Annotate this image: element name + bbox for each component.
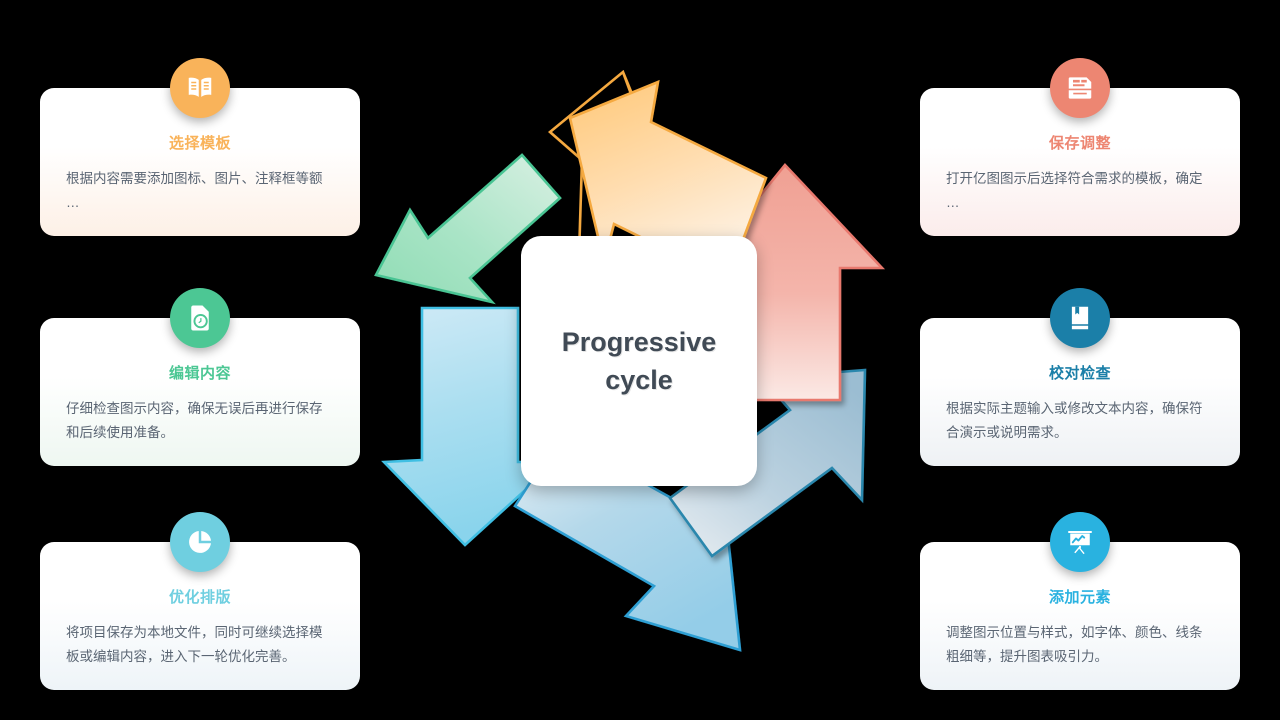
card-title: 优化排版	[66, 586, 334, 607]
card-description: 调整图示位置与样式，如字体、颜色、线条粗细等，提升图表吸引力。	[946, 621, 1214, 668]
pie-chart-icon	[170, 512, 230, 572]
card-title: 添加元素	[946, 586, 1214, 607]
open-book-icon	[170, 58, 230, 118]
presentation-chart-icon	[1050, 512, 1110, 572]
card-title: 保存调整	[946, 132, 1214, 153]
cycle-center-box: Progressive cycle	[521, 236, 757, 486]
floppy-save-icon	[1050, 58, 1110, 118]
card-description: 根据内容需要添加图标、图片、注释框等额 …	[66, 167, 334, 214]
card-optimize-layout[interactable]: 优化排版 将项目保存为本地文件，同时可继续选择模板或编辑内容，进入下一轮优化完善…	[40, 542, 360, 690]
card-add-elements[interactable]: 添加元素 调整图示位置与样式，如字体、颜色、线条粗细等，提升图表吸引力。	[920, 542, 1240, 690]
card-proofread-check[interactable]: 校对检查 根据实际主题输入或修改文本内容，确保符合演示或说明需求。	[920, 318, 1240, 466]
book-bookmark-icon	[1050, 288, 1110, 348]
card-title: 选择模板	[66, 132, 334, 153]
slide-canvas: Progressive cycle 选择模板 根据内容需要添加图标、图片、注释框…	[0, 0, 1280, 720]
card-description: 仔细检查图示内容，确保无误后再进行保存和后续使用准备。	[66, 397, 334, 444]
card-title: 校对检查	[946, 362, 1214, 383]
card-save-adjust[interactable]: 保存调整 打开亿图图示后选择符合需求的模板，确定 …	[920, 88, 1240, 236]
card-description: 将项目保存为本地文件，同时可继续选择模板或编辑内容，进入下一轮优化完善。	[66, 621, 334, 668]
card-select-template[interactable]: 选择模板 根据内容需要添加图标、图片、注释框等额 …	[40, 88, 360, 236]
card-description: 根据实际主题输入或修改文本内容，确保符合演示或说明需求。	[946, 397, 1214, 444]
card-title: 编辑内容	[66, 362, 334, 383]
document-clock-icon	[170, 288, 230, 348]
cycle-center-label: Progressive cycle	[549, 323, 729, 400]
card-edit-content[interactable]: 编辑内容 仔细检查图示内容，确保无误后再进行保存和后续使用准备。	[40, 318, 360, 466]
card-description: 打开亿图图示后选择符合需求的模板，确定 …	[946, 167, 1214, 214]
